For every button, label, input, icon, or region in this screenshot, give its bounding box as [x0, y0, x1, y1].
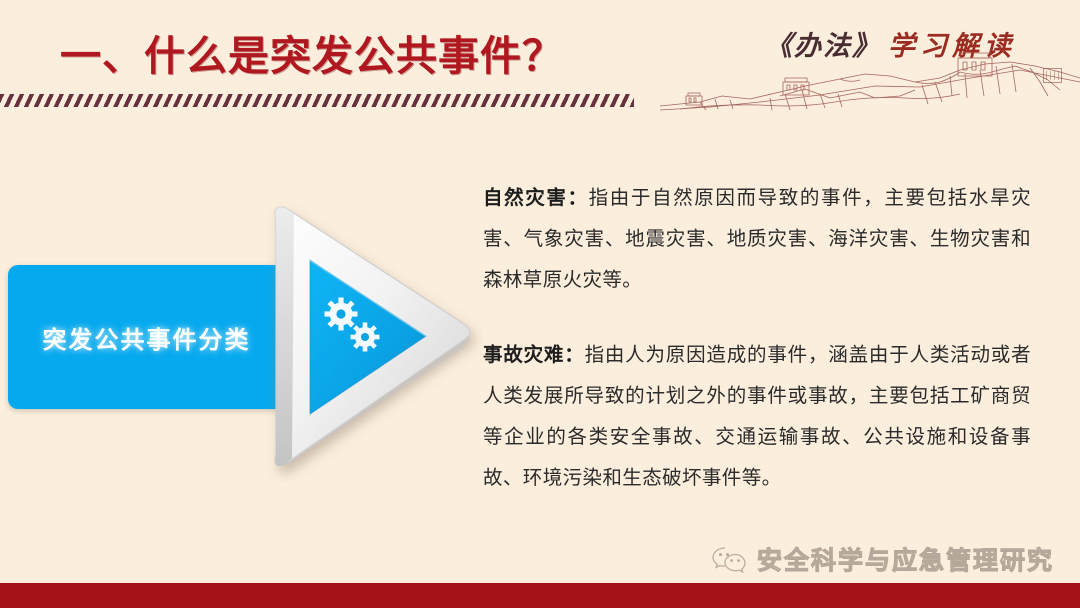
category-label-text: 突发公共事件分类 — [43, 320, 251, 355]
content-column: 自然灾害：指由于自然原因而导致的事件，主要包括水旱灾害、气象灾害、地震灾害、地质… — [483, 178, 1031, 499]
bottom-bar — [0, 583, 1080, 608]
content-term: 事故灾难： — [483, 344, 585, 366]
page-title: 一、什么是突发公共事件？ — [60, 22, 564, 82]
wechat-icon — [712, 545, 748, 573]
category-label-bar[interactable]: 突发公共事件分类 — [8, 265, 285, 409]
watermark: 安全科学与应急管理研究 — [712, 541, 1054, 577]
play-triangle-graphic — [258, 196, 483, 481]
content-term: 自然灾害： — [483, 187, 589, 209]
content-item: 事故灾难：指由人为原因造成的事件，涵盖由于人类活动或者人类发展所导致的计划之外的… — [483, 335, 1031, 499]
hatched-divider — [0, 94, 634, 107]
seal-stamp — [1043, 68, 1062, 83]
great-wall-illustration — [660, 52, 1080, 114]
content-item: 自然灾害：指由于自然原因而导致的事件，主要包括水旱灾害、气象灾害、地震灾害、地质… — [483, 178, 1031, 301]
branding-block: 《办法》学习解读 — [650, 0, 1080, 118]
watermark-text: 安全科学与应急管理研究 — [757, 541, 1054, 577]
slide-canvas: 一、什么是突发公共事件？ 《办法》学习解读 — [0, 0, 1080, 608]
